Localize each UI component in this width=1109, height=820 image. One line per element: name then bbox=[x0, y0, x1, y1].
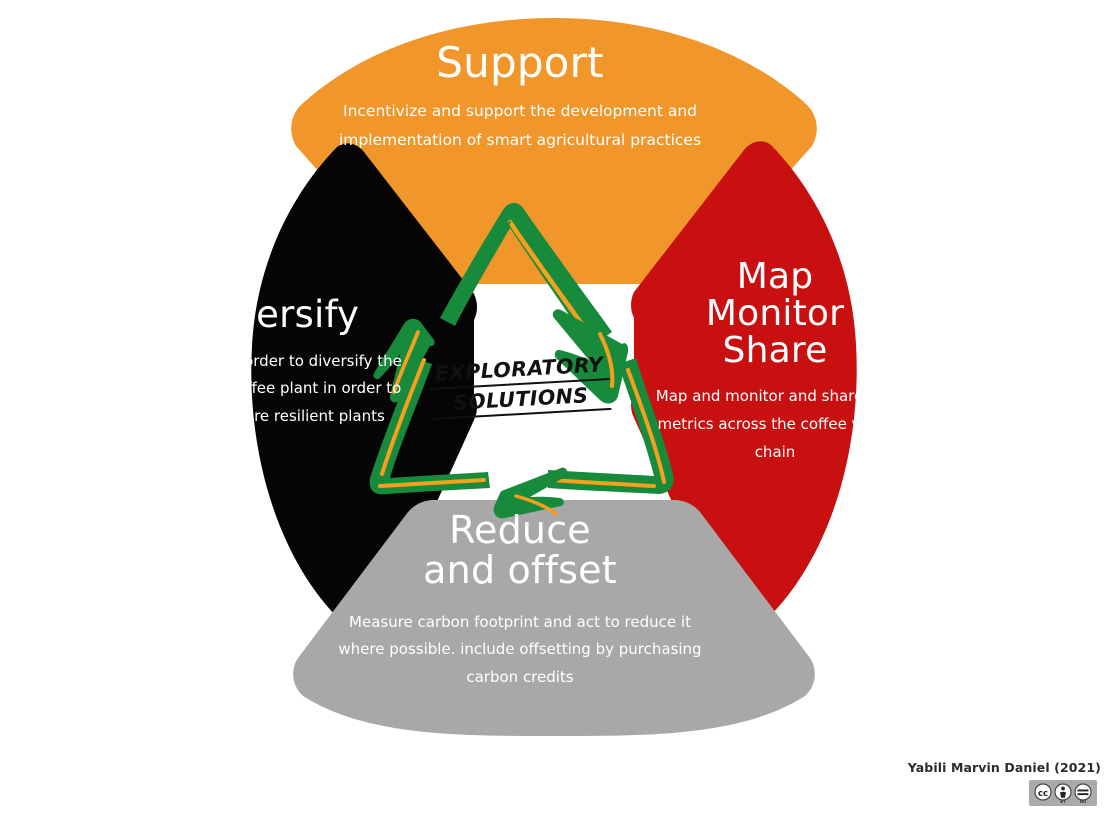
cc-license-icons: cc BY ND bbox=[1032, 782, 1094, 804]
diagram-canvas: Support Incentivize and support the deve… bbox=[0, 0, 1109, 820]
svg-text:cc: cc bbox=[1038, 789, 1048, 799]
cc-icon: cc bbox=[1035, 784, 1051, 800]
by-label: BY bbox=[1060, 799, 1066, 804]
nd-label: ND bbox=[1080, 799, 1087, 804]
petal-shapes-svg bbox=[0, 0, 1109, 820]
creative-commons-badge: cc BY ND bbox=[1029, 780, 1097, 806]
attribution-credit: Yabili Marvin Daniel (2021) bbox=[851, 760, 1101, 775]
attribution-block: Yabili Marvin Daniel (2021) cc BY bbox=[851, 760, 1101, 808]
